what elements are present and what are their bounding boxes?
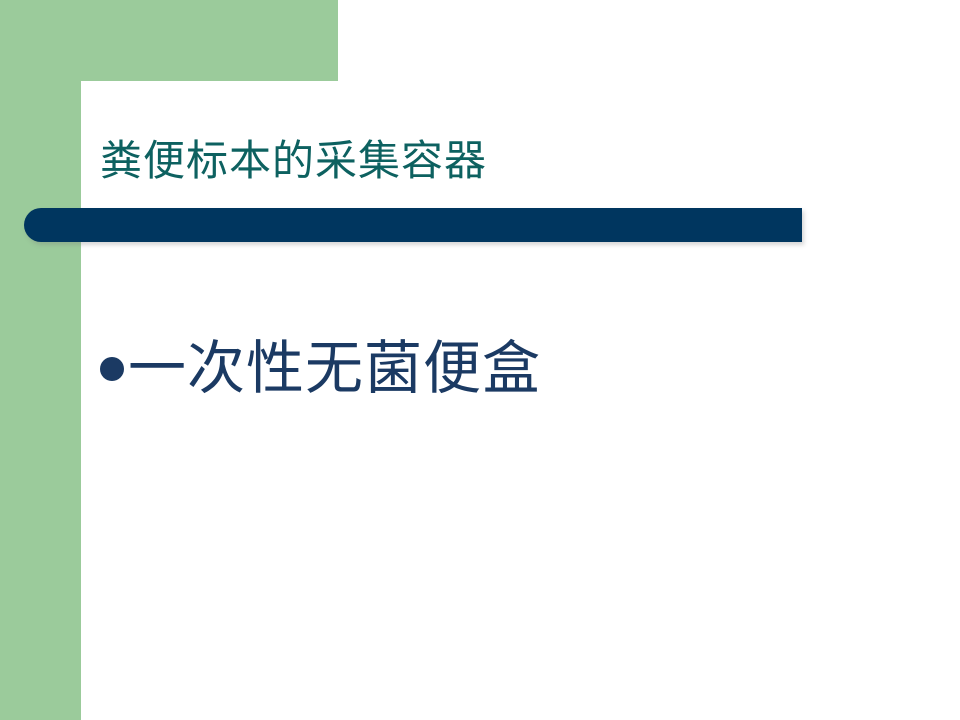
bullet-item-label: 一次性无菌便盒 [128, 338, 541, 401]
page-title: 粪便标本的采集容器 [100, 141, 487, 183]
body-content: 一次性无菌便盒 [100, 338, 860, 401]
slide-canvas: 粪便标本的采集容器 一次性无菌便盒 [0, 0, 960, 720]
green-top-block [0, 0, 338, 81]
title-divider-bar [24, 208, 802, 242]
title-block: 粪便标本的采集容器 [100, 131, 800, 193]
bullet-dot-icon [100, 357, 124, 381]
green-side-strip [0, 0, 81, 720]
list-item: 一次性无菌便盒 [100, 338, 860, 401]
